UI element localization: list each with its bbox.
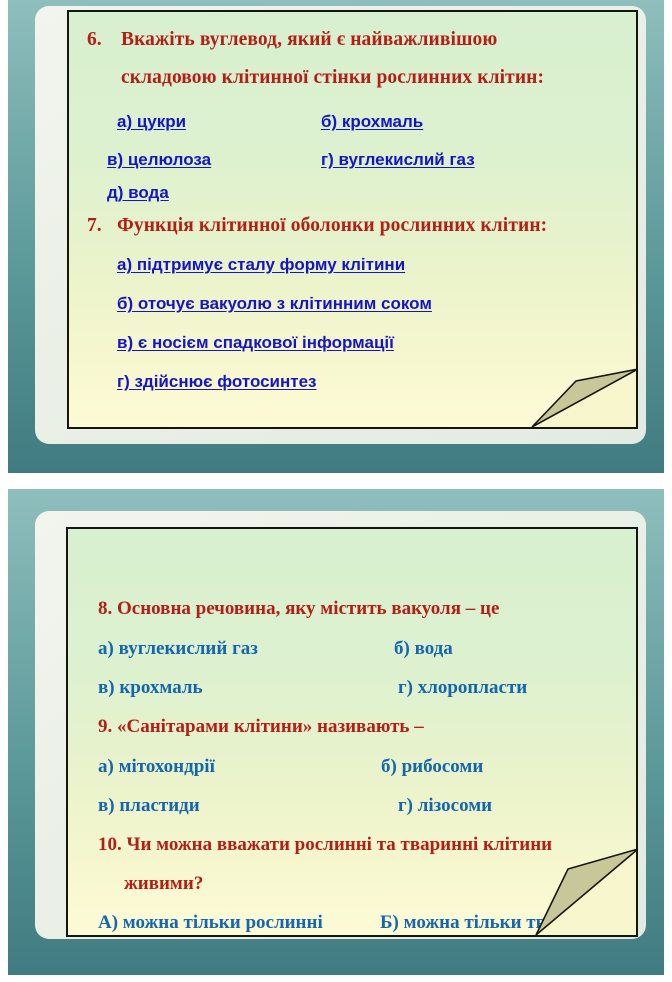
page-fold-corner-icon [518,319,638,429]
question-6-option-g[interactable]: г) вуглекислий газ [321,151,475,168]
question-card-1: 6. Вкажіть вуглевод, який є найважливішо… [67,10,638,429]
question-8-option-a[interactable]: а) вуглекислий газ [98,639,258,658]
question-7-number: 7. [87,216,102,236]
question-7-option-g[interactable]: г) здійснює фотосинтез [117,373,317,390]
question-9-option-b[interactable]: б) рибосоми [381,757,483,776]
question-7-option-b[interactable]: б) оточує вакуолю з клітинним соком [117,295,432,312]
question-7-option-a[interactable]: а) підтримує сталу форму клітини [117,256,405,273]
question-8-text-line-1: 8. Основна речовина, яку містить вакуоля… [98,599,499,618]
question-8-option-v[interactable]: в) крохмаль [98,678,203,697]
question-6-option-v[interactable]: в) целюлоза [107,151,211,168]
question-6-option-b[interactable]: б) крохмаль [321,113,423,130]
question-10-text-line-2: живими? [124,874,203,893]
question-9-text-line-1: 9. «Санітарами клітини» називають – [98,717,424,736]
question-7-option-v[interactable]: в) є носієм спадкової інформації [117,334,394,351]
question-9-option-a[interactable]: а) мітохондрії [98,757,215,776]
question-6-option-d[interactable]: д) вода [107,184,169,201]
question-6-option-a[interactable]: а) цукри [117,113,186,130]
question-6-text-line-2: складовою клітинної стінки рослинних клі… [121,68,544,88]
question-6-number: 6. [87,30,102,50]
slide-panel-2: 8. Основна речовина, яку містить вакуоля… [35,511,646,939]
question-8-option-g[interactable]: г) хлоропласти [398,678,527,697]
slide-frame-2: 8. Основна речовина, яку містить вакуоля… [8,489,664,975]
question-card-2: 8. Основна речовина, яку містить вакуоля… [66,527,638,937]
slide-panel-1: 6. Вкажіть вуглевод, який є найважливішо… [35,6,646,444]
question-9-option-v[interactable]: в) пластиди [98,796,200,815]
question-9-option-g[interactable]: г) лізосоми [398,796,492,815]
question-7-text-line-1: Функція клітинної оболонки рослинних клі… [117,216,547,236]
page-fold-corner-icon [518,827,638,937]
question-10-option-a[interactable]: А) можна тільки рослинні [98,913,323,932]
question-8-option-b[interactable]: б) вода [394,639,453,658]
question-6-text-line-1: Вкажіть вуглевод, який є найважливішою [121,30,497,50]
slide-frame-1: 6. Вкажіть вуглевод, який є найважливішо… [8,0,664,473]
question-10-text-line-1: 10. Чи можна вважати рослинні та тваринн… [98,835,552,854]
